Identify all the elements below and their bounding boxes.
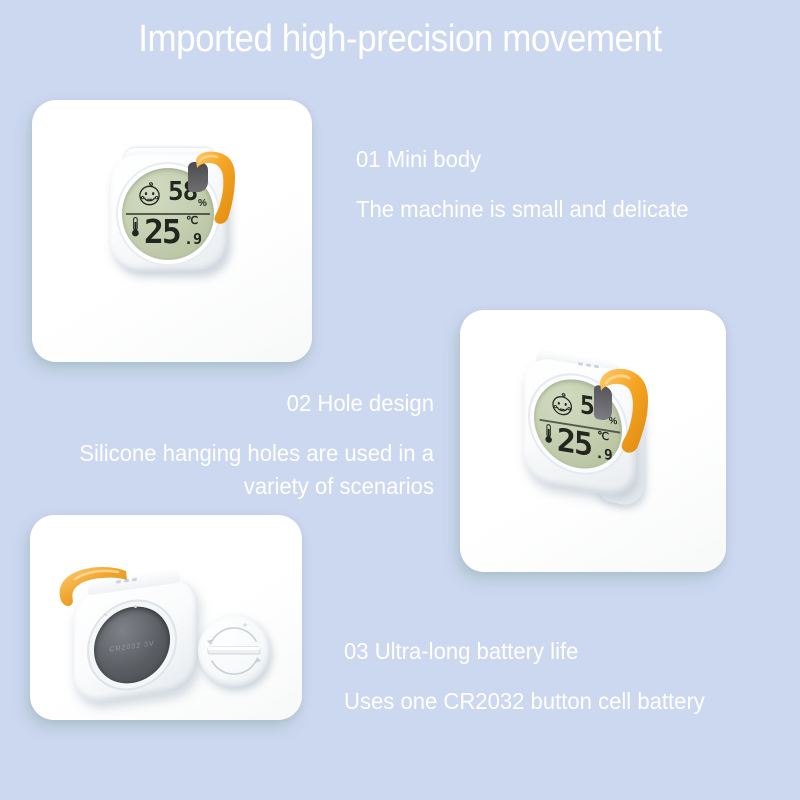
battery-cover bbox=[198, 615, 270, 687]
product-card-back-battery: CR2032 3V bbox=[30, 515, 302, 720]
thermometer-icon bbox=[543, 422, 554, 445]
device-front-image: 58 % 25 .9 ℃ bbox=[110, 148, 238, 276]
feature-block-03: 03 Ultra-long battery life Uses one CR20… bbox=[344, 638, 784, 718]
product-card-front: 58 % 25 .9 ℃ bbox=[32, 100, 312, 362]
product-card-angled: 58 % 25 .9 ℃ bbox=[460, 310, 726, 572]
silicone-hanging-strap-icon bbox=[54, 563, 130, 617]
feature-03-description: Uses one CR2032 button cell battery bbox=[344, 685, 766, 718]
thermometer-icon bbox=[130, 216, 141, 238]
battery-compartment-label: CR2032 3V bbox=[109, 640, 154, 653]
page-title: Imported high-precision movement bbox=[32, 18, 768, 61]
screw-dot bbox=[104, 613, 107, 616]
temperature-decimal: .9 bbox=[184, 232, 202, 247]
feature-01-heading: 01 Mini body bbox=[356, 146, 759, 173]
device-back-image: CR2032 3V bbox=[60, 563, 250, 693]
feature-block-01: 01 Mini body The machine is small and de… bbox=[356, 146, 776, 226]
silicone-hanging-strap-icon bbox=[194, 150, 238, 228]
feature-02-heading: 02 Hole design bbox=[31, 390, 434, 417]
feature-block-02: 02 Hole design Silicone hanging holes ar… bbox=[14, 390, 434, 504]
baby-face-icon bbox=[136, 181, 164, 209]
baby-face-icon bbox=[549, 390, 576, 421]
silicone-hanging-strap-icon bbox=[598, 366, 652, 458]
temperature-value: 25 bbox=[144, 215, 180, 248]
device-angled-image: 58 % 25 .9 ℃ bbox=[516, 352, 676, 524]
temperature-value: 25 bbox=[557, 424, 591, 461]
feature-02-description: Silicone hanging holes are used in a var… bbox=[31, 437, 434, 504]
feature-01-description: The machine is small and delicate bbox=[356, 193, 759, 226]
screw-dot bbox=[134, 605, 137, 608]
feature-03-heading: 03 Ultra-long battery life bbox=[344, 638, 766, 665]
